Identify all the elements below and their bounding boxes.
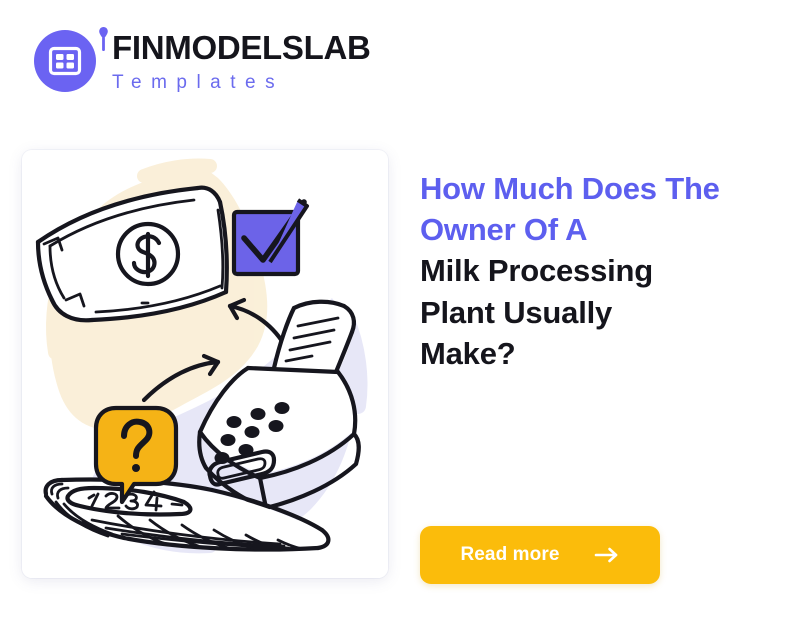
illustration-card: .ink { fill: none; stroke: #16161E; stro…: [22, 150, 388, 578]
brand-subtitle: Templates: [112, 73, 371, 92]
headline-lead-line-2: Owner Of A: [420, 209, 776, 250]
purple-checkbox: [234, 200, 307, 274]
brand-name: FINMODELSLAB: [112, 31, 371, 64]
arrow-right-icon: [594, 547, 620, 563]
headline-main-line-1: Milk Processing: [420, 250, 776, 291]
brand-logo[interactable]: FINMODELSLAB Templates: [34, 30, 371, 92]
headline-block: How Much Does The Owner Of A Milk Proces…: [420, 168, 776, 374]
promo-banner: FINMODELSLAB Templates .ink { fill: none…: [0, 0, 800, 618]
headline-main-line-3: Make?: [420, 333, 776, 374]
page-title: How Much Does The Owner Of A Milk Proces…: [420, 168, 776, 374]
read-more-label: Read more: [460, 544, 559, 566]
map-pin-icon: [98, 26, 109, 52]
money-terminal-illustration: .ink { fill: none; stroke: #16161E; stro…: [22, 150, 388, 578]
grid-square-icon: [34, 30, 96, 92]
headline-lead-line-1: How Much Does The: [420, 168, 776, 209]
read-more-button[interactable]: Read more: [420, 526, 660, 584]
brand-wordmark: FINMODELSLAB Templates: [112, 31, 371, 92]
headline-main-line-2: Plant Usually: [420, 292, 776, 333]
